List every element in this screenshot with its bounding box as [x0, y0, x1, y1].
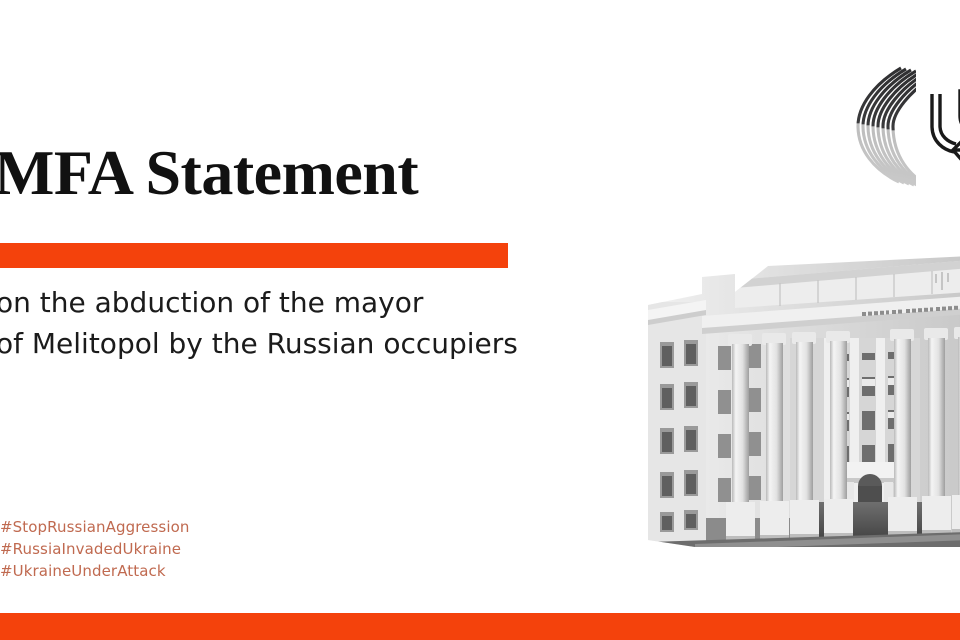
accent-rule: [0, 243, 508, 268]
page-title: MFA Statement: [0, 136, 694, 210]
mfa-arc-icon: [852, 62, 916, 187]
ukraine-trident-icon: [922, 80, 960, 176]
mfa-building-photo: [640, 250, 960, 555]
mfa-logo: [852, 62, 960, 187]
page-subtitle: on the abduction of the mayor of Melitop…: [0, 282, 636, 364]
statement-card: MFA Statement on the abduction of the ma…: [0, 0, 960, 640]
hashtag-item[interactable]: #UkraineUnderAttack: [0, 560, 420, 582]
footer-accent-band: [0, 613, 960, 640]
hashtag-list: #StopRussianAggression #RussiaInvadedUkr…: [0, 516, 420, 582]
hashtag-item[interactable]: #StopRussianAggression: [0, 516, 420, 538]
hashtag-item[interactable]: #RussiaInvadedUkraine: [0, 538, 420, 560]
